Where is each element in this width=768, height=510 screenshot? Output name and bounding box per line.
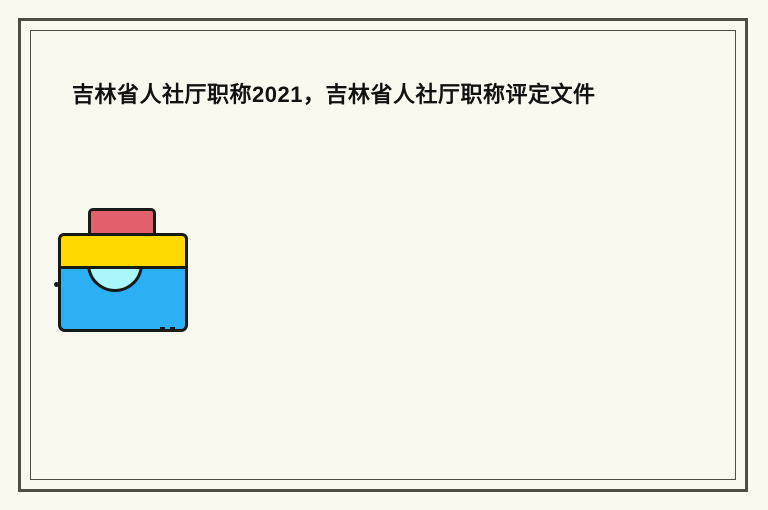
toolbox-lid-icon bbox=[58, 233, 188, 269]
page-canvas: 吉林省人社厅职称2021，吉林省人社厅职称评定文件 bbox=[0, 0, 768, 510]
toolbox-dash-icon-1 bbox=[160, 327, 165, 330]
page-title: 吉林省人社厅职称2021，吉林省人社厅职称评定文件 bbox=[72, 80, 712, 110]
toolbox-dash-icon-2 bbox=[170, 327, 175, 330]
toolbox-illustration bbox=[50, 196, 200, 344]
toolbox-left-dot-icon bbox=[54, 282, 59, 287]
